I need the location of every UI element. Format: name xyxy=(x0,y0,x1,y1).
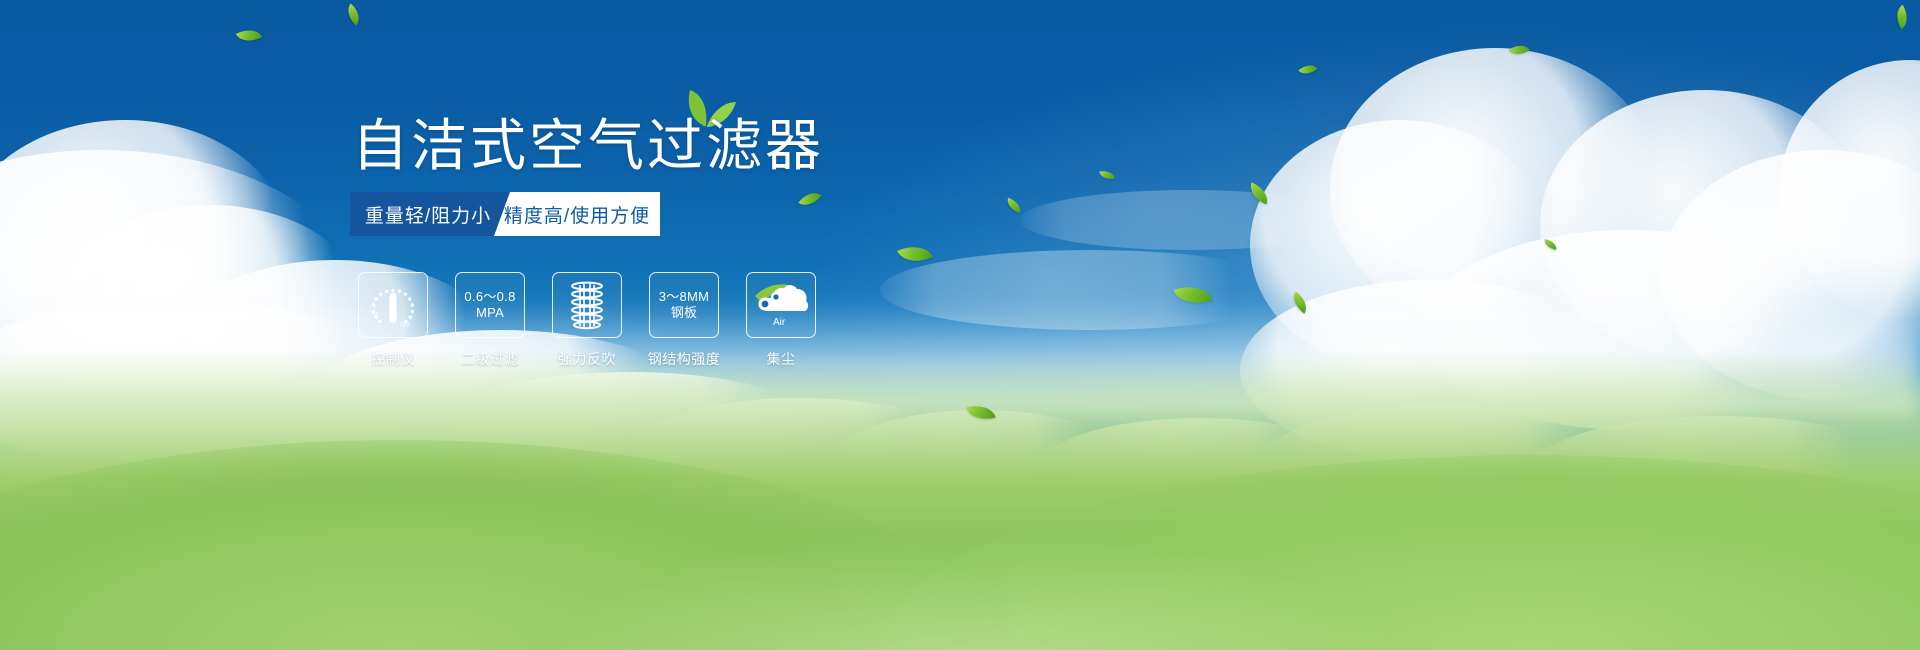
feature-item-controller[interactable]: NO OFF 控制仪 xyxy=(358,272,428,369)
feature-label: 控制仪 xyxy=(371,349,415,369)
dial-label-off: OFF xyxy=(400,323,410,329)
pressure-unit-text: MPA xyxy=(476,305,504,321)
feature-icon-box: NO OFF xyxy=(358,272,428,338)
filter-cartridge-icon xyxy=(563,279,611,331)
feature-icon-row: NO OFF 控制仪 0.6～0.8 MPA 二级过滤 xyxy=(358,272,816,369)
cloud-air-icon: Air xyxy=(751,280,811,330)
feature-icon-box: 0.6～0.8 MPA xyxy=(455,272,525,338)
dial-label-no: NO xyxy=(372,312,380,318)
feature-tab-strip: 重量轻/阻力小 精度高/使用方便 xyxy=(350,192,660,236)
feature-icon-box: Air xyxy=(746,272,816,338)
pressure-value-text: 0.6～0.8 xyxy=(464,289,515,305)
feature-label: 集尘 xyxy=(767,349,796,369)
feature-icon-box: 3～8MM 钢板 xyxy=(649,272,719,338)
tab-lightweight-lowresistance[interactable]: 重量轻/阻力小 xyxy=(350,192,510,236)
gauge-dial-icon: NO OFF xyxy=(364,279,422,331)
air-label: Air xyxy=(773,317,786,328)
tab-highprecision-easyuse[interactable]: 精度高/使用方便 xyxy=(494,192,660,236)
banner-content: 自洁式空气过滤器 重量轻/阻力小 精度高/使用方便 xyxy=(0,0,1920,650)
page-title: 自洁式空气过滤器 xyxy=(352,118,824,174)
feature-label: 强力反吹 xyxy=(558,349,616,369)
feature-label: 钢结构强度 xyxy=(648,349,721,369)
feature-item-dust-collection[interactable]: Air 集尘 xyxy=(746,272,816,369)
feature-icon-box xyxy=(552,272,622,338)
feature-item-strong-backblow[interactable]: 强力反吹 xyxy=(552,272,622,369)
hero-banner: 自洁式空气过滤器 重量轻/阻力小 精度高/使用方便 xyxy=(0,0,1920,650)
steel-plate-text: 钢板 xyxy=(671,305,698,321)
feature-label: 二级过滤 xyxy=(461,349,519,369)
feature-item-two-stage-filter[interactable]: 0.6～0.8 MPA 二级过滤 xyxy=(455,272,525,369)
steel-thickness-text: 3～8MM xyxy=(659,289,710,305)
feature-item-steel-strength[interactable]: 3～8MM 钢板 钢结构强度 xyxy=(649,272,719,369)
